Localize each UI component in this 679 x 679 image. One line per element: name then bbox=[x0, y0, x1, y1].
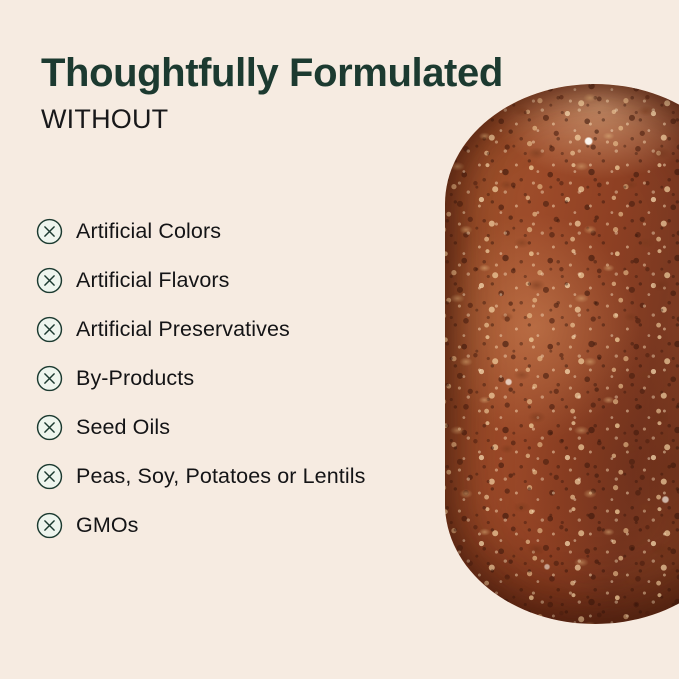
list-item-label: Artificial Preservatives bbox=[76, 319, 290, 341]
treat-texture-coarse bbox=[445, 84, 679, 624]
treat-edge-shading bbox=[445, 84, 679, 624]
promo-graphic: Thoughtfully Formulated WITHOUT Artifici… bbox=[0, 0, 679, 679]
list-item: Artificial Flavors bbox=[36, 256, 436, 305]
list-item-label: By-Products bbox=[76, 368, 194, 390]
list-item-label: GMOs bbox=[76, 515, 139, 537]
page-title: Thoughtfully Formulated bbox=[41, 53, 503, 94]
circle-x-icon bbox=[36, 218, 63, 245]
list-item: By-Products bbox=[36, 354, 436, 403]
circle-x-icon bbox=[36, 267, 63, 294]
list-item: GMOs bbox=[36, 501, 436, 550]
list-item: Artificial Preservatives bbox=[36, 305, 436, 354]
page-subtitle: WITHOUT bbox=[41, 105, 168, 133]
list-item: Peas, Soy, Potatoes or Lentils bbox=[36, 452, 436, 501]
circle-x-icon bbox=[36, 414, 63, 441]
exclusion-list: Artificial Colors Artificial Flavors Art… bbox=[36, 207, 436, 550]
list-item-label: Artificial Colors bbox=[76, 221, 221, 243]
treat-texture-specks bbox=[445, 84, 679, 624]
circle-x-icon bbox=[36, 316, 63, 343]
circle-x-icon bbox=[36, 512, 63, 539]
circle-x-icon bbox=[36, 463, 63, 490]
list-item-label: Artificial Flavors bbox=[76, 270, 230, 292]
list-item-label: Seed Oils bbox=[76, 417, 170, 439]
list-item-label: Peas, Soy, Potatoes or Lentils bbox=[76, 466, 365, 488]
list-item: Seed Oils bbox=[36, 403, 436, 452]
list-item: Artificial Colors bbox=[36, 207, 436, 256]
treat-texture-blotches bbox=[445, 84, 679, 624]
circle-x-icon bbox=[36, 365, 63, 392]
dog-treat-photo bbox=[445, 84, 679, 624]
treat-texture-fine bbox=[445, 84, 679, 624]
